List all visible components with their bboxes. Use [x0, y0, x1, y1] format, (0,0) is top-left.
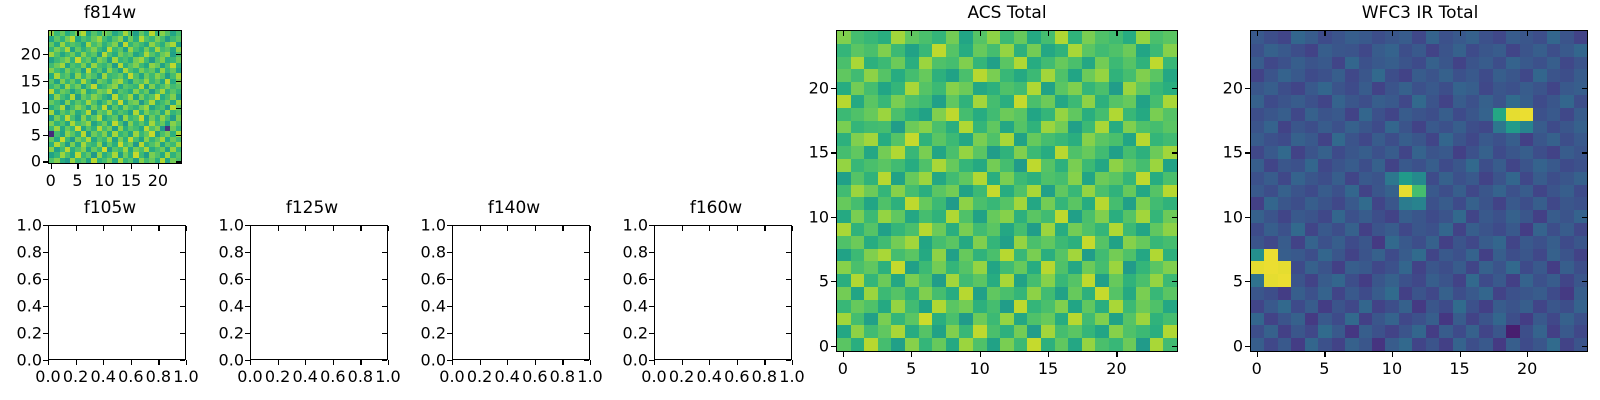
x-tick-mark [1116, 352, 1117, 357]
y-tick-label: 5 [1197, 272, 1243, 291]
panel-acs-total: ACS Total 0510152005101520 [790, 0, 1190, 400]
x-tick-mark [48, 360, 49, 365]
y-tick-mark-inner [176, 54, 181, 55]
y-tick-mark [43, 135, 48, 136]
x-tick-mark [654, 360, 655, 365]
x-tick-mark [682, 360, 683, 365]
y-tick-label: 1.0 [198, 216, 244, 235]
x-tick-mark [709, 360, 710, 365]
y-tick-mark [447, 306, 452, 307]
y-tick-mark-inner [180, 225, 185, 226]
y-tick-mark [43, 225, 48, 226]
x-tick-mark-inner [77, 31, 78, 36]
plot-area-wfc3-ir-total[interactable] [1250, 30, 1588, 352]
y-tick-mark-inner [1582, 346, 1587, 347]
y-tick-mark [1245, 88, 1250, 89]
y-tick-label: 0.2 [0, 324, 42, 343]
y-tick-mark-inner [584, 279, 589, 280]
x-tick-mark-inner [104, 31, 105, 36]
x-tick-mark-inner [131, 31, 132, 36]
y-tick-label: 0.8 [602, 243, 648, 262]
y-tick-label: 0.0 [400, 351, 446, 370]
y-tick-mark [1245, 152, 1250, 153]
x-tick-label: 0.4 [494, 367, 519, 386]
y-tick-mark [831, 88, 836, 89]
x-tick-mark-inner [305, 226, 306, 231]
y-tick-mark-inner [180, 360, 185, 361]
x-tick-mark [333, 360, 334, 365]
x-tick-label: 5 [72, 171, 82, 190]
y-tick-label: 0.8 [198, 243, 244, 262]
x-tick-mark-inner [764, 226, 765, 231]
x-tick-label: 0.2 [265, 367, 290, 386]
y-tick-mark-inner [584, 252, 589, 253]
x-tick-label: 0.0 [641, 367, 666, 386]
y-tick-label: 0.2 [602, 324, 648, 343]
x-tick-mark-inner [682, 226, 683, 231]
x-tick-mark [360, 360, 361, 365]
y-tick-mark-inner [584, 225, 589, 226]
y-tick-mark-inner [1172, 281, 1177, 282]
x-tick-mark [1324, 352, 1325, 357]
y-tick-label: 1.0 [0, 216, 42, 235]
x-tick-mark [562, 360, 563, 365]
y-tick-label: 0.4 [198, 297, 244, 316]
y-tick-label: 5 [0, 125, 41, 144]
y-tick-mark-inner [382, 252, 387, 253]
y-tick-mark-inner [1582, 88, 1587, 89]
x-tick-mark-inner [103, 226, 104, 231]
panel-f125w: f125w 0.00.20.40.60.81.00.00.20.40.60.81… [202, 190, 402, 400]
x-tick-label: 1.0 [375, 367, 400, 386]
y-tick-mark [447, 252, 452, 253]
y-tick-mark [43, 252, 48, 253]
y-tick-mark-inner [176, 135, 181, 136]
x-tick-mark-inner [737, 226, 738, 231]
panel-f140w: f140w 0.00.20.40.60.81.00.00.20.40.60.81… [404, 190, 604, 400]
y-tick-label: 20 [1197, 78, 1243, 97]
y-tick-label: 10 [1197, 207, 1243, 226]
y-tick-label: 0.6 [198, 270, 244, 289]
y-tick-mark-inner [1172, 152, 1177, 153]
x-tick-mark-inner [76, 226, 77, 231]
panel-f814w: f814w 0510152005101520 [0, 0, 200, 190]
y-tick-mark-inner [584, 333, 589, 334]
x-tick-mark [131, 164, 132, 169]
x-tick-label: 1.0 [173, 367, 198, 386]
x-tick-mark [480, 360, 481, 365]
x-tick-label: 0.6 [320, 367, 345, 386]
plot-area-f105w[interactable] [48, 225, 186, 360]
x-tick-label: 15 [121, 171, 141, 190]
y-tick-label: 0.0 [0, 351, 42, 370]
y-tick-mark [447, 333, 452, 334]
x-tick-label: 1.0 [577, 367, 602, 386]
y-tick-mark [245, 306, 250, 307]
y-tick-label: 20 [0, 45, 41, 64]
y-tick-mark [43, 54, 48, 55]
y-tick-mark [447, 360, 452, 361]
x-tick-label: 0.2 [63, 367, 88, 386]
y-tick-mark-inner [176, 108, 181, 109]
plot-area-acs-total[interactable] [836, 30, 1178, 352]
x-tick-mark [535, 360, 536, 365]
y-tick-mark [447, 225, 452, 226]
x-tick-mark [507, 360, 508, 365]
y-tick-mark [1245, 281, 1250, 282]
plot-area-f160w[interactable] [654, 225, 792, 360]
x-tick-mark-inner [1527, 31, 1528, 36]
x-tick-label: 0.6 [724, 367, 749, 386]
y-tick-mark-inner [1172, 217, 1177, 218]
x-tick-mark [104, 164, 105, 169]
y-tick-label: 0.6 [602, 270, 648, 289]
heatmap-wfc3-ir-total [1251, 31, 1587, 351]
x-tick-mark [77, 164, 78, 169]
x-tick-mark-inner [48, 226, 49, 231]
x-tick-mark-inner [911, 31, 912, 36]
x-tick-mark-inner [452, 226, 453, 231]
y-tick-mark [649, 252, 654, 253]
x-tick-mark-inner [1257, 31, 1258, 36]
plot-area-f814w[interactable] [48, 30, 182, 164]
x-tick-label: 0 [46, 171, 56, 190]
x-tick-mark [1048, 352, 1049, 357]
panel-title-wfc3-ir-total: WFC3 IR Total [1250, 3, 1590, 23]
y-tick-mark [1245, 217, 1250, 218]
y-tick-mark [649, 306, 654, 307]
x-tick-mark-inner [562, 226, 563, 231]
x-tick-mark-inner [158, 226, 159, 231]
y-tick-label: 0.8 [0, 243, 42, 262]
y-tick-mark [43, 161, 48, 162]
y-tick-label: 15 [1197, 143, 1243, 162]
x-tick-mark [1257, 352, 1258, 357]
x-tick-mark [764, 360, 765, 365]
x-tick-mark-inner [590, 226, 591, 231]
y-tick-mark [1245, 346, 1250, 347]
y-tick-mark-inner [1582, 152, 1587, 153]
y-tick-mark [245, 279, 250, 280]
x-tick-mark-inner [709, 226, 710, 231]
x-tick-label: 0.8 [146, 367, 171, 386]
x-tick-label: 20 [1517, 359, 1537, 378]
x-tick-mark [1527, 352, 1528, 357]
y-tick-label: 20 [783, 78, 829, 97]
plot-area-f140w[interactable] [452, 225, 590, 360]
y-tick-label: 0.6 [400, 270, 446, 289]
y-tick-mark [43, 333, 48, 334]
y-tick-mark [831, 217, 836, 218]
x-tick-label: 20 [1106, 359, 1126, 378]
y-tick-label: 5 [783, 272, 829, 291]
y-tick-mark-inner [382, 306, 387, 307]
y-tick-mark-inner [382, 333, 387, 334]
y-tick-label: 15 [783, 143, 829, 162]
y-tick-mark-inner [1172, 88, 1177, 89]
y-tick-mark [43, 306, 48, 307]
plot-area-f125w[interactable] [250, 225, 388, 360]
x-tick-mark-inner [333, 226, 334, 231]
y-tick-label: 15 [0, 71, 41, 90]
y-tick-mark [245, 225, 250, 226]
x-tick-mark-inner [158, 31, 159, 36]
y-tick-label: 0.0 [198, 351, 244, 370]
y-tick-mark-inner [1172, 346, 1177, 347]
y-tick-mark-inner [180, 252, 185, 253]
y-tick-label: 0 [0, 152, 41, 171]
x-tick-mark-inner [360, 226, 361, 231]
x-tick-mark-inner [1392, 31, 1393, 36]
x-tick-mark-inner [1116, 31, 1117, 36]
y-tick-label: 0.2 [198, 324, 244, 343]
x-tick-mark [980, 352, 981, 357]
x-tick-mark-inner [131, 226, 132, 231]
x-tick-label: 0.6 [522, 367, 547, 386]
x-tick-mark-inner [1460, 31, 1461, 36]
y-tick-mark-inner [382, 360, 387, 361]
panel-f160w: f160w 0.00.20.40.60.81.00.00.20.40.60.81… [606, 190, 806, 400]
y-tick-mark-inner [584, 306, 589, 307]
x-tick-label: 15 [1449, 359, 1469, 378]
x-tick-mark-inner [480, 226, 481, 231]
x-tick-label: 5 [906, 359, 916, 378]
x-tick-mark [452, 360, 453, 365]
x-tick-label: 10 [969, 359, 989, 378]
y-tick-label: 0.0 [602, 351, 648, 370]
x-tick-label: 0.8 [752, 367, 777, 386]
y-tick-mark [649, 279, 654, 280]
y-tick-mark [43, 81, 48, 82]
y-tick-mark [43, 360, 48, 361]
x-tick-label: 0.0 [237, 367, 262, 386]
x-tick-mark [250, 360, 251, 365]
y-tick-mark-inner [584, 360, 589, 361]
y-tick-label: 0.4 [602, 297, 648, 316]
x-tick-mark-inner [654, 226, 655, 231]
x-tick-mark-inner [1324, 31, 1325, 36]
y-tick-mark-inner [180, 333, 185, 334]
x-tick-mark [590, 360, 591, 365]
x-tick-mark [305, 360, 306, 365]
x-tick-mark [1460, 352, 1461, 357]
y-tick-mark [245, 252, 250, 253]
panel-f105w: f105w 0.00.20.40.60.81.00.00.20.40.60.81… [0, 190, 200, 400]
y-tick-mark [43, 108, 48, 109]
x-tick-mark-inner [51, 31, 52, 36]
x-tick-mark-inner [250, 226, 251, 231]
y-tick-label: 1.0 [400, 216, 446, 235]
x-tick-mark [1392, 352, 1393, 357]
y-tick-mark [245, 360, 250, 361]
x-tick-mark-inner [278, 226, 279, 231]
x-tick-label: 0.8 [550, 367, 575, 386]
heatmap-acs-total [837, 31, 1177, 351]
x-tick-mark [51, 164, 52, 169]
y-tick-label: 0 [1197, 336, 1243, 355]
x-tick-label: 15 [1038, 359, 1058, 378]
x-tick-mark [158, 360, 159, 365]
x-tick-label: 0.8 [348, 367, 373, 386]
y-tick-label: 0.4 [400, 297, 446, 316]
y-tick-mark [43, 279, 48, 280]
y-tick-mark-inner [1582, 281, 1587, 282]
x-tick-mark-inner [1048, 31, 1049, 36]
x-tick-label: 0.0 [35, 367, 60, 386]
x-tick-label: 0.0 [439, 367, 464, 386]
x-tick-label: 0.4 [90, 367, 115, 386]
x-tick-mark-inner [388, 226, 389, 231]
y-tick-label: 10 [783, 207, 829, 226]
y-tick-mark-inner [382, 279, 387, 280]
x-tick-mark [843, 352, 844, 357]
y-tick-mark-inner [176, 161, 181, 162]
y-tick-label: 0.6 [0, 270, 42, 289]
x-tick-label: 5 [1319, 359, 1329, 378]
heatmap-f814w [49, 31, 181, 163]
y-tick-mark [831, 346, 836, 347]
x-tick-mark [158, 164, 159, 169]
y-tick-mark [447, 279, 452, 280]
y-tick-mark-inner [1582, 217, 1587, 218]
x-tick-mark [76, 360, 77, 365]
x-tick-mark-inner [186, 226, 187, 231]
y-tick-label: 10 [0, 98, 41, 117]
y-tick-mark-inner [176, 81, 181, 82]
x-tick-mark [737, 360, 738, 365]
y-tick-mark [245, 333, 250, 334]
x-tick-label: 0.6 [118, 367, 143, 386]
y-tick-label: 1.0 [602, 216, 648, 235]
x-tick-mark [186, 360, 187, 365]
y-tick-mark [649, 225, 654, 226]
y-tick-label: 0.2 [400, 324, 446, 343]
x-tick-mark [131, 360, 132, 365]
x-tick-mark [388, 360, 389, 365]
x-tick-mark [911, 352, 912, 357]
y-tick-mark-inner [180, 279, 185, 280]
y-tick-mark [649, 333, 654, 334]
y-tick-mark-inner [180, 306, 185, 307]
x-tick-mark-inner [535, 226, 536, 231]
y-tick-mark [649, 360, 654, 361]
x-tick-label: 0 [838, 359, 848, 378]
y-tick-mark-inner [382, 225, 387, 226]
panel-title-acs-total: ACS Total [836, 3, 1178, 23]
x-tick-label: 10 [94, 171, 114, 190]
panel-wfc3-ir-total: WFC3 IR Total 0510152005101520 [1200, 0, 1600, 400]
x-tick-label: 20 [148, 171, 168, 190]
y-tick-label: 0.4 [0, 297, 42, 316]
x-tick-mark-inner [507, 226, 508, 231]
x-tick-label: 0.4 [696, 367, 721, 386]
x-tick-mark [103, 360, 104, 365]
x-tick-mark-inner [843, 31, 844, 36]
y-tick-label: 0 [783, 336, 829, 355]
x-tick-label: 0.2 [669, 367, 694, 386]
x-tick-mark [278, 360, 279, 365]
x-tick-label: 0 [1252, 359, 1262, 378]
x-tick-label: 0.4 [292, 367, 317, 386]
y-tick-mark [831, 281, 836, 282]
panel-title-f814w: f814w [0, 3, 230, 23]
x-tick-label: 0.2 [467, 367, 492, 386]
x-tick-label: 10 [1382, 359, 1402, 378]
y-tick-mark [831, 152, 836, 153]
x-tick-mark-inner [980, 31, 981, 36]
y-tick-label: 0.8 [400, 243, 446, 262]
